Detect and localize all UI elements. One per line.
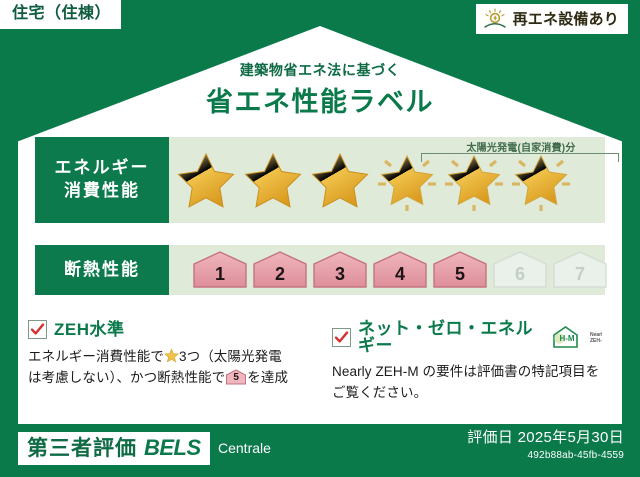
category-tag: 住宅（住棟） xyxy=(0,0,121,29)
inline-star-icon xyxy=(164,348,179,363)
checkbox-checked-icon xyxy=(28,320,47,339)
bels-footer-badge: 第三者評価 BELS xyxy=(18,432,210,465)
insulation-level-label: 1 xyxy=(215,265,225,290)
zeh-standard-text: エネルギー消費性能で3つ（太陽光発電は考慮しない）、かつ断熱性能で5を達成 xyxy=(28,347,308,389)
net-zero-energy-block: ネット・ゼロ・エネルギー H-M Nearly ZEH-M Nearly ZEH… xyxy=(322,320,616,404)
energy-label-line2: 消費性能 xyxy=(64,180,140,203)
insulation-performance-row: 断熱性能 1 2 3 xyxy=(34,244,606,296)
insulation-level-label: 6 xyxy=(515,265,525,290)
insulation-scale-area: 1 2 3 4 5 xyxy=(169,245,609,295)
zeh-standard-block: ZEH水準 エネルギー消費性能で3つ（太陽光発電は考慮しない）、かつ断熱性能で5… xyxy=(28,320,322,404)
energy-performance-label: 住宅（住棟） 再エネ設備あり 建築物省エネ法に基づく 省エネ性能ラベル xyxy=(0,0,640,477)
star-filled xyxy=(173,147,239,213)
insulation-performance-label-cell: 断熱性能 xyxy=(35,245,169,295)
zeh-standard-header: ZEH水準 xyxy=(28,320,308,339)
insulation-level-1: 1 xyxy=(191,250,249,290)
inline-house-badge-icon: 5 xyxy=(225,369,247,385)
sun-icon xyxy=(482,8,508,30)
insulation-level-6: 6 xyxy=(491,250,549,290)
svg-text:H-M: H-M xyxy=(559,334,574,343)
footer-meta: 評価日 2025年5月30日 492b88ab-45fb-4559 xyxy=(467,429,624,463)
nearly-zeh-m-logo-icon: H-M Nearly ZEH-M xyxy=(550,324,602,350)
zeh-text-star-count: 3つ（太陽光発電 xyxy=(179,349,282,364)
insulation-label: 断熱性能 xyxy=(64,259,140,282)
insulation-level-5: 5 xyxy=(431,250,489,290)
insulation-level-label: 2 xyxy=(275,265,285,290)
zeh-text-part3: を達成 xyxy=(247,370,288,385)
star-filled xyxy=(307,147,373,213)
star-filled xyxy=(240,147,306,213)
energy-performance-row: エネルギー 消費性能 太陽光発電(自家消費)分 xyxy=(34,136,606,224)
net-zero-energy-header: ネット・ゼロ・エネルギー H-M Nearly ZEH-M xyxy=(332,320,602,354)
insulation-level-3: 3 xyxy=(311,250,369,290)
insulation-level-label: 3 xyxy=(335,265,345,290)
bels-en-label: BELS xyxy=(144,437,201,459)
zeh-standard-title: ZEH水準 xyxy=(54,321,125,338)
label-title: 省エネ性能ラベル xyxy=(0,80,640,119)
bels-jp-label: 第三者評価 xyxy=(27,438,137,459)
solar-annotation-bracket xyxy=(421,153,619,162)
renewable-energy-badge: 再エネ設備あり xyxy=(476,4,628,34)
checkbox-checked-icon xyxy=(332,328,351,347)
energy-stars-area: 太陽光発電(自家消費)分 xyxy=(169,137,605,223)
label-subtitle: 建築物省エネ法に基づく xyxy=(0,60,640,80)
evaluation-id: 492b88ab-45fb-4559 xyxy=(467,449,624,463)
net-zero-energy-title: ネット・ゼロ・エネルギー xyxy=(358,320,541,354)
energy-performance-label-cell: エネルギー 消費性能 xyxy=(35,137,169,223)
insulation-level-7: 7 xyxy=(551,250,609,290)
svg-text:ZEH-M: ZEH-M xyxy=(590,338,602,344)
insulation-level-label: 4 xyxy=(395,265,405,290)
zeh-text-part2: は考慮しない）、かつ断熱性能で xyxy=(28,370,225,385)
insulation-scale: 1 2 3 4 5 xyxy=(169,250,609,290)
info-section: ZEH水準 エネルギー消費性能で3つ（太陽光発電は考慮しない）、かつ断熱性能で5… xyxy=(28,320,616,404)
net-zero-energy-text: Nearly ZEH-M の要件は評価書の特記項目をご覧ください。 xyxy=(332,362,602,404)
energy-label-line1: エネルギー xyxy=(55,157,150,180)
solar-annotation-text: 太陽光発電(自家消費)分 xyxy=(421,139,621,154)
renewable-badge-label: 再エネ設備あり xyxy=(513,12,619,27)
evaluation-date: 評価日 2025年5月30日 xyxy=(467,429,624,447)
zeh-text-part1: エネルギー消費性能で xyxy=(28,349,164,364)
insulation-level-2: 2 xyxy=(251,250,309,290)
inline-house-value: 5 xyxy=(225,369,247,385)
insulation-level-label: 7 xyxy=(575,265,585,290)
insulation-level-label: 5 xyxy=(455,265,465,290)
organization-name: Centrale xyxy=(218,441,271,455)
insulation-level-4: 4 xyxy=(371,250,429,290)
